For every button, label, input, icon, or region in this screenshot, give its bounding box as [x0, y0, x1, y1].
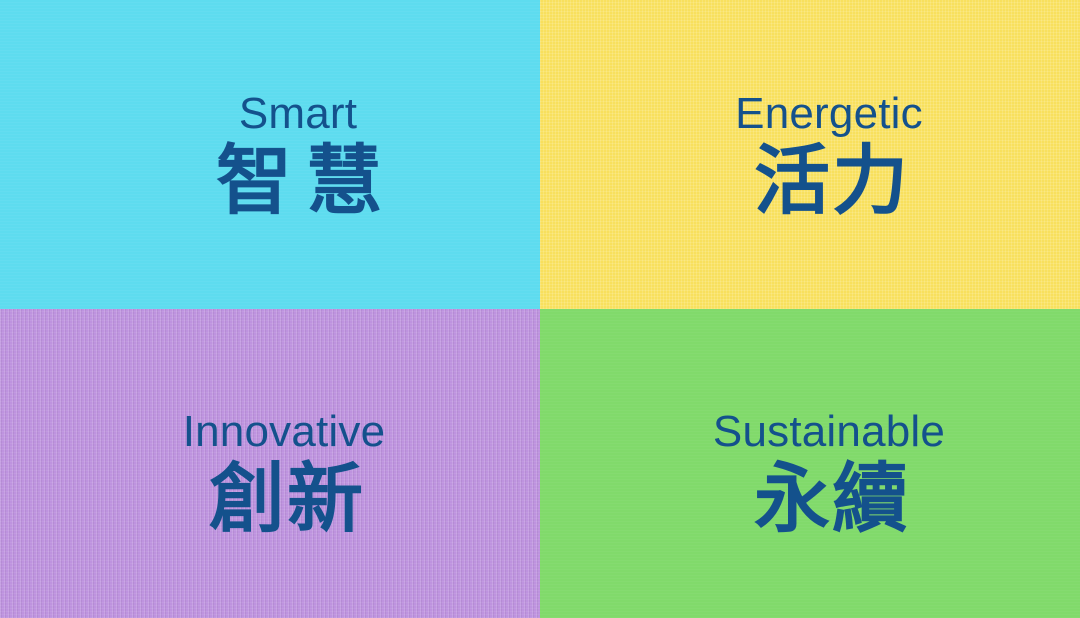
- panel-innovative[interactable]: Innovative 創新: [0, 309, 540, 618]
- panel-chinese-label-smart: 智慧: [216, 144, 396, 220]
- panel-english-label-sustainable: Sustainable: [713, 410, 945, 454]
- panel-chinese-label-innovative: 創新: [209, 462, 365, 538]
- panel-sustainable[interactable]: Sustainable 永續: [540, 309, 1080, 618]
- panel-english-label-energetic: Energetic: [735, 92, 923, 136]
- label-block-energetic: Energetic 活力: [578, 92, 1080, 220]
- panel-english-label-smart: Smart: [239, 92, 357, 136]
- brand-values-board: Smart 智慧 Energetic 活力 Innovative 創新 Sust…: [0, 0, 1080, 618]
- panel-smart[interactable]: Smart 智慧: [0, 0, 540, 309]
- panel-chinese-label-energetic: 活力: [754, 144, 910, 220]
- label-block-innovative: Innovative 創新: [28, 410, 540, 538]
- panel-energetic[interactable]: Energetic 活力: [540, 0, 1080, 309]
- quadrant-grid: Smart 智慧 Energetic 活力 Innovative 創新 Sust…: [0, 0, 1080, 618]
- panel-chinese-label-sustainable: 永續: [754, 462, 910, 538]
- label-block-sustainable: Sustainable 永續: [578, 410, 1080, 538]
- label-block-smart: Smart 智慧: [56, 92, 540, 220]
- panel-english-label-innovative: Innovative: [183, 410, 386, 454]
